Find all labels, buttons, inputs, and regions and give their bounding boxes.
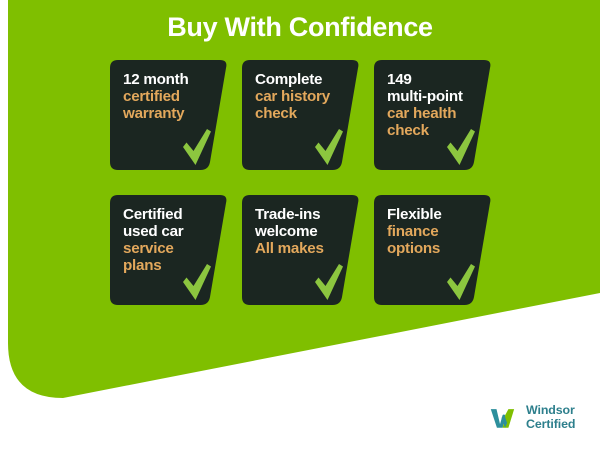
page-title: Buy With Confidence [0,12,600,43]
card-service-plans[interactable]: Certifiedused carserviceplans [110,195,228,305]
check-tick-icon [182,263,212,301]
card-text-line: service [123,240,227,257]
check-tick-icon [314,263,344,301]
check-tick-icon [446,128,476,166]
windsor-certified-logo: Windsor Certified [489,403,575,433]
card-warranty[interactable]: 12 monthcertifiedwarranty [110,60,228,170]
card-text-line: multi-point [387,88,491,105]
card-text-line: Certified [123,206,227,223]
card-text-line: car health [387,105,491,122]
card-text-line: Trade-ins [255,206,359,223]
card-text-line: 149 [387,71,491,88]
card-text-line: check [255,105,359,122]
card-history-check[interactable]: Completecar historycheck [242,60,360,170]
card-text-line: certified [123,88,227,105]
logo-wordmark: Windsor Certified [526,404,575,432]
card-finance[interactable]: Flexiblefinanceoptions [374,195,492,305]
card-text-block: Flexiblefinanceoptions [387,206,491,257]
card-text-line: Complete [255,71,359,88]
card-text-line: 12 month [123,71,227,88]
logo-line-1: Windsor [526,404,575,418]
check-tick-icon [446,263,476,301]
check-tick-icon [314,128,344,166]
card-trade-ins[interactable]: Trade-inswelcomeAll makes [242,195,360,305]
card-text-block: Trade-inswelcomeAll makes [255,206,359,257]
card-text-line: welcome [255,223,359,240]
card-text-line: options [387,240,491,257]
check-tick-icon [182,128,212,166]
card-text-line: car history [255,88,359,105]
card-health-check[interactable]: 149multi-pointcar healthcheck [374,60,492,170]
card-text-block: 12 monthcertifiedwarranty [123,71,227,122]
card-text-block: Completecar historycheck [255,71,359,122]
card-text-line: Flexible [387,206,491,223]
card-text-line: All makes [255,240,359,257]
card-text-line: warranty [123,105,227,122]
logo-line-2: Certified [526,418,575,432]
card-text-line: used car [123,223,227,240]
windsor-w-icon [489,403,519,433]
promo-graphic: Buy With Confidence 12 monthcertifiedwar… [0,0,600,450]
card-text-line: finance [387,223,491,240]
